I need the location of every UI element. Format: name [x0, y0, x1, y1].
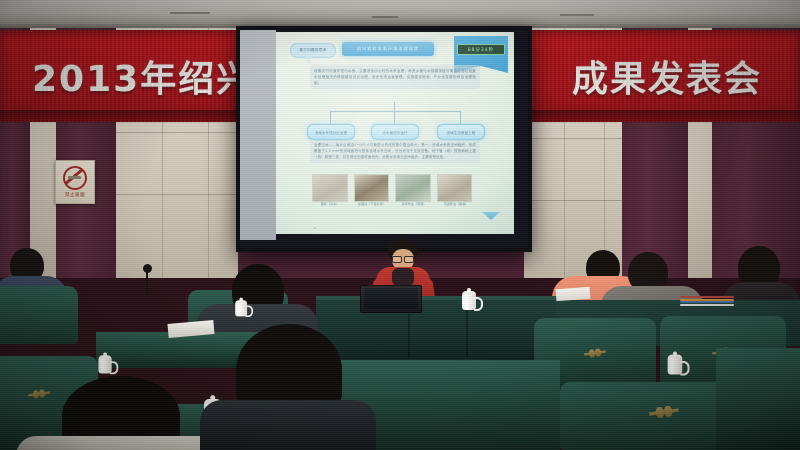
microphone[interactable]	[146, 272, 148, 296]
slide-node-1: 流域水环境分区治理	[307, 124, 355, 140]
slide-paragraph-1: 改善农村河道环境与水系，主要涉及中心村的水系治理，考虑乡镇污水规模排放与清洁生活…	[310, 65, 480, 89]
ceiling-slot	[372, 16, 398, 18]
ceiling-slot	[170, 12, 210, 14]
slide-ribbon	[454, 36, 508, 66]
slide-photo-caption: 处理池（干湿分离）	[354, 202, 390, 206]
slide-photo-caption: 河道整治（验收）	[438, 202, 474, 206]
presenter-inner-top	[392, 268, 414, 286]
slide-photo-captions: 图例（污水） 处理池（干湿分离） 清淤作业（现场） 河道整治（验收）	[312, 202, 474, 206]
ceiling-slot	[560, 14, 594, 16]
audience-shoulders	[200, 400, 376, 450]
slide-node-2: 污水管控与运行	[371, 124, 419, 140]
audience-shoulders	[16, 436, 226, 450]
slide-photo-2	[354, 174, 390, 202]
slide-paragraph-2: 治理空间——每片区域由2～3个人口聚居点构成的集中整治单元；第一、流域水系的空间…	[310, 140, 480, 163]
lidded-mug[interactable]	[235, 298, 249, 317]
audience-table	[716, 348, 800, 450]
lidded-mug[interactable]	[98, 353, 113, 374]
laptop[interactable]	[360, 285, 422, 313]
slide-logo-icon	[482, 212, 500, 220]
papers[interactable]	[556, 287, 591, 301]
presentation-slide: 基于问题的思考 绍兴农村水系环境治理现状 00分34秒 改善农村河道环境与水系，…	[276, 32, 514, 234]
conference-hall-photo: 2013年绍兴市 成果发表会 禁止吸烟 基于问题的思考 绍兴农村水系环境治理现状…	[0, 0, 800, 450]
slide-photo-caption: 图例（污水）	[312, 202, 348, 206]
slide-tree-diagram: 流域水环境分区治理 污水管控与运行 流域生态修复工程	[310, 102, 478, 132]
slide-photo-4	[437, 174, 473, 202]
slide-photo-strip	[312, 174, 472, 206]
countdown-timer: 00分34秒	[457, 44, 505, 55]
slide-title: 绍兴农村水系环境治理现状	[342, 42, 434, 56]
glasses-icon	[392, 256, 414, 261]
no-smoking-icon: 禁止吸烟	[55, 160, 95, 204]
slide-photo-caption: 清淤作业（现场）	[396, 202, 432, 206]
banner-text-right: 成果发表会	[572, 50, 762, 102]
lidded-mug[interactable]	[462, 288, 478, 310]
slide-photo-1	[312, 174, 348, 202]
slide-page-number: 5	[314, 226, 316, 230]
no-smoking-label: 禁止吸烟	[65, 192, 85, 198]
slide-node-3: 流域生态修复工程	[437, 124, 485, 140]
projection-screen-edge	[240, 30, 276, 240]
slide-photo-3	[395, 174, 431, 202]
book-stack[interactable]	[680, 296, 734, 305]
slide-speech-bubble: 基于问题的思考	[290, 43, 336, 58]
chair[interactable]	[0, 286, 78, 344]
chair[interactable]	[560, 382, 728, 450]
head-table	[316, 300, 558, 360]
lidded-mug[interactable]	[668, 351, 685, 374]
